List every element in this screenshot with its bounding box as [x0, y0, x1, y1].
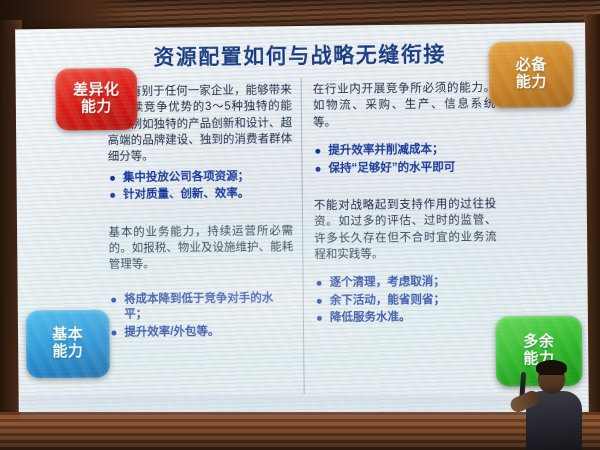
right-bullets-surplus: 逐个清理，考虑取消； 余下活动，能省则省； 降低服务水准。 — [315, 275, 498, 327]
badge-basic-line1: 基本 — [52, 327, 83, 344]
projection-screen: 资源配置如何与战略无缝衔接 差异化 能力 必备 能力 基本 能力 多余 能力 有… — [15, 23, 589, 416]
badge-basic-capability: 基本 能力 — [26, 310, 110, 378]
list-item: 集中投放公司各项资源； — [108, 169, 293, 186]
badge-basic-line2: 能力 — [52, 344, 83, 361]
badge-essential-line1: 必备 — [515, 57, 546, 74]
left-paragraph-basic: 基本的业务能力，持续运营所必需的。如报税、物业及设施维护、能耗管理等。 — [108, 223, 293, 274]
slide-body-columns: 有别于任何一家企业，能够带来可持续竞争优势的3～5种独特的能力。例如独特的产品创… — [101, 76, 504, 396]
right-bullets-essential: 提升效率并削减成本； 保持“足够好”的水平即可 — [313, 142, 496, 177]
badge-essential-line2: 能力 — [516, 74, 547, 91]
presentation-photo-scene: 资源配置如何与战略无缝衔接 差异化 能力 必备 能力 基本 能力 多余 能力 有… — [0, 0, 600, 450]
badge-differentiation-line1: 差异化 — [73, 82, 119, 99]
column-right: 在行业内开展竞争所必须的能力。如物流、采购、生产、信息系统等。 提升效率并削减成… — [301, 76, 504, 394]
badge-differentiation-line2: 能力 — [81, 99, 112, 116]
list-item: 降低服务水准。 — [315, 310, 498, 327]
badge-essential-capability: 必备 能力 — [489, 41, 574, 108]
slide-content: 资源配置如何与战略无缝衔接 差异化 能力 必备 能力 基本 能力 多余 能力 有… — [15, 23, 589, 416]
left-bullets-basic: 将成本降到低于竞争对手的水平； 提升效率/外包等。 — [109, 291, 294, 341]
left-column-spacer-2 — [109, 277, 294, 291]
list-item: 提升效率并削减成本； — [313, 142, 496, 159]
list-item: 针对质量、创新、效率。 — [108, 186, 293, 203]
badge-differentiation-capability: 差异化 能力 — [55, 68, 137, 131]
right-paragraph-essential: 在行业内开展竞争所必须的能力。如物流、采购、生产、信息系统等。 — [313, 80, 496, 131]
list-item: 将成本降到低于竞争对手的水平； — [109, 291, 294, 324]
right-column-spacer-3 — [314, 267, 496, 275]
badge-surplus-line1: 多余 — [523, 334, 554, 351]
left-bullets-differentiation: 集中投放公司各项资源； 针对质量、创新、效率。 — [108, 169, 293, 204]
right-paragraph-surplus: 不能对战略起到支持作用的过往投资。如过多的评估、过时的监管、许多长久存在但不合时… — [314, 196, 497, 263]
list-item: 逐个清理，考虑取消； — [315, 275, 498, 292]
glasses-icon — [539, 373, 564, 379]
presenter-person — [504, 358, 590, 450]
list-item: 余下活动，能省则省； — [315, 292, 498, 309]
list-item: 提升效率/外包等。 — [109, 324, 294, 341]
screen-reflection — [20, 396, 580, 420]
list-item: 保持“足够好”的水平即可 — [313, 159, 496, 176]
right-column-spacer — [313, 134, 495, 142]
